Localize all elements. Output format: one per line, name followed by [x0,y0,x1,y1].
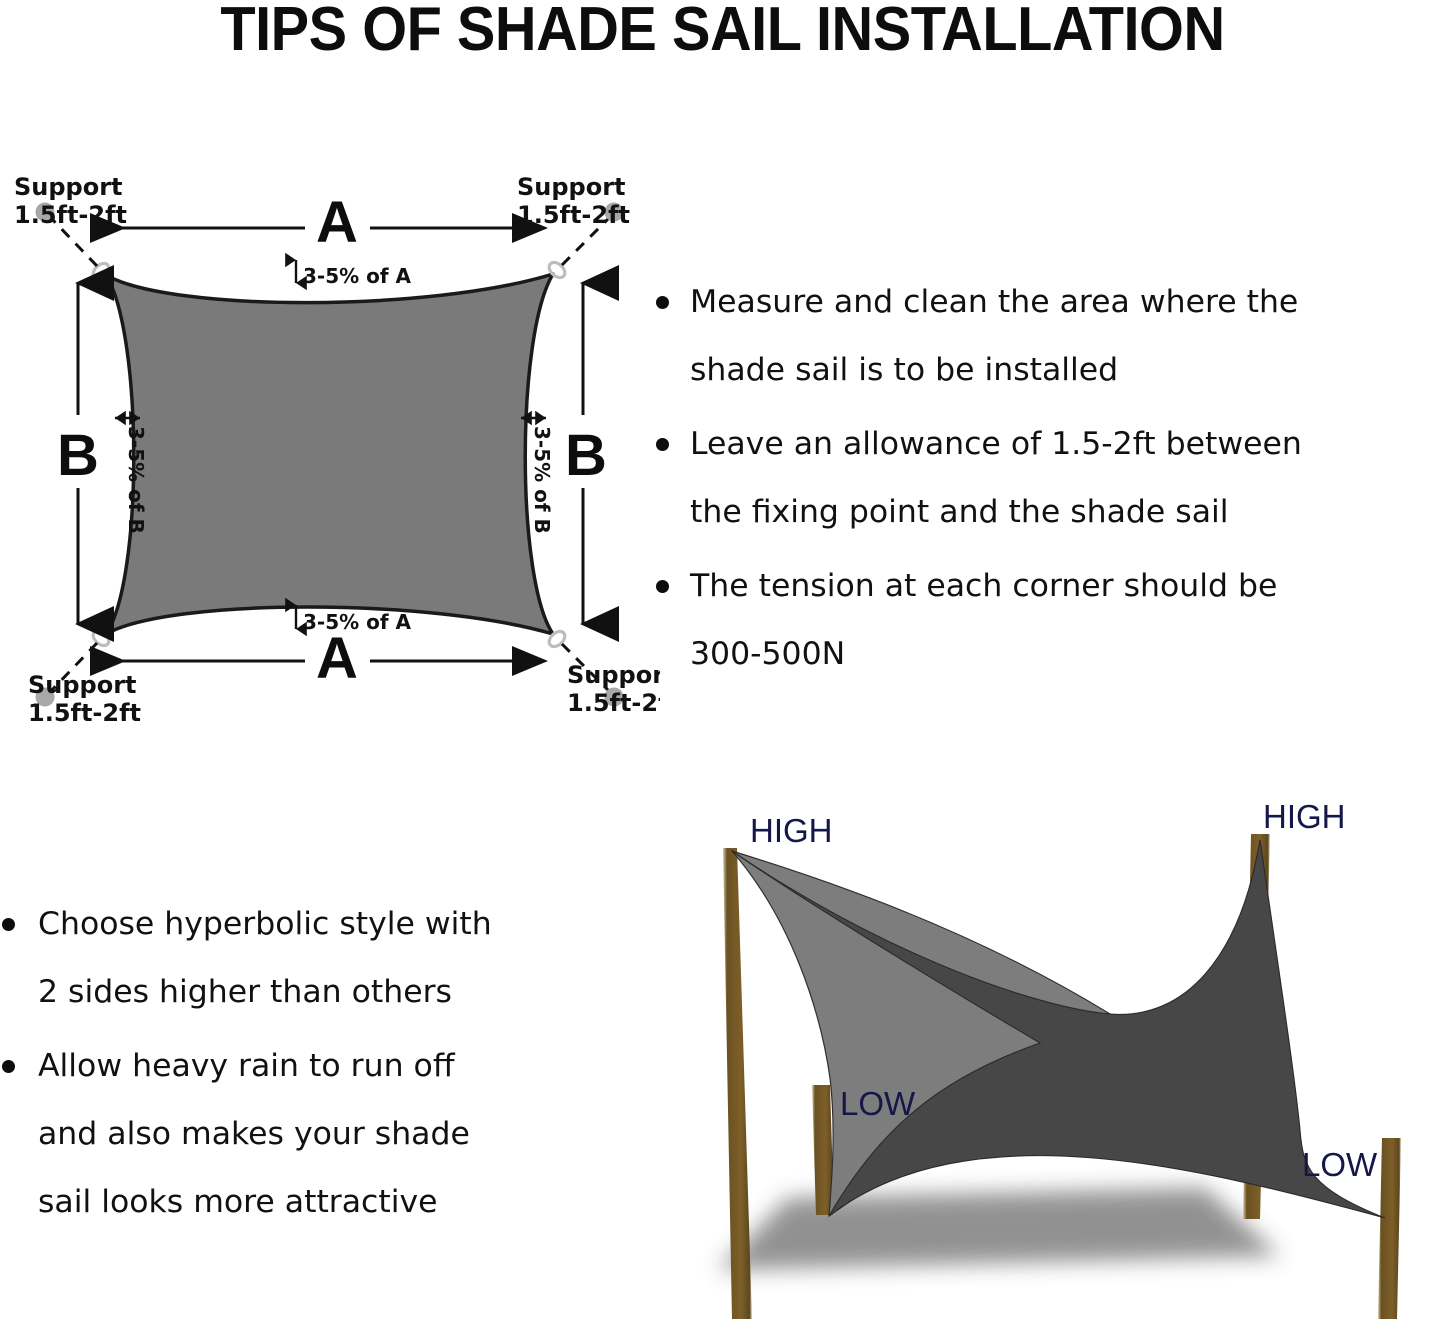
bullet-icon [2,918,15,931]
installation-tips-list: Measure and clean the area where the sha… [648,268,1445,694]
pole-low-right [1378,1138,1401,1319]
support-label-line1: Support [567,661,660,689]
support-label-line1: Support [28,671,137,699]
dimension-label-b-right: B [565,423,607,488]
tip-line: Leave an allowance of 1.5-2ft between [690,426,1302,462]
list-item: Leave an allowance of 1.5-2ft between th… [648,410,1445,546]
support-label-line1: Support [517,173,626,201]
support-label-line1: Support [14,173,123,201]
rectangular-sail-diagram: A 3-5% of A A 3-5% of A B 3-5% of B B 3-… [0,150,660,730]
label-high-left: HIGH [750,812,833,849]
dimension-label-b-left: B [57,423,99,488]
label-low-left: LOW [840,1085,916,1122]
tip-line: 2 sides higher than others [38,974,452,1010]
tips-bullet-list: Measure and clean the area where the sha… [648,268,1445,688]
tip-line: shade sail is to be installed [690,352,1118,388]
pole-high-left [723,848,752,1319]
tip-line: and also makes your shade [38,1116,470,1152]
label-low-right: LOW [1302,1146,1378,1183]
support-label-line2: 1.5ft-2ft [28,699,141,727]
list-item: Allow heavy rain to run off and also mak… [0,1032,620,1236]
list-item: The tension at each corner should be 300… [648,552,1445,688]
tip-line: sail looks more attractive [38,1184,438,1220]
hyperbolic-tips-list: Choose hyperbolic style with 2 sides hig… [0,890,620,1242]
hyperbolic-sail-svg: HIGH HIGH LOW LOW [640,778,1445,1319]
page-title: TIPS OF SHADE SAIL INSTALLATION [51,0,1395,65]
tip-line: The tension at each corner should be [690,568,1277,604]
curve-label-left: 3-5% of B [124,426,148,534]
dimension-label-a-bottom: A [316,626,358,691]
list-item: Measure and clean the area where the sha… [648,268,1445,404]
bullet-icon [656,580,669,593]
support-label-bottom-right: Support 1.5ft-2ft [567,661,660,717]
bullet-icon [656,438,669,451]
shade-sail-shape [106,274,553,634]
curve-label-right: 3-5% of B [530,426,554,534]
curve-label-top: 3-5% of A [303,264,412,288]
tip-line: Measure and clean the area where the [690,284,1298,320]
bullet-icon [2,1060,15,1073]
curve-label-bottom: 3-5% of A [303,610,412,634]
sail-diagram-svg: A 3-5% of A A 3-5% of A B 3-5% of B B 3-… [0,150,660,730]
tip-line: the fixing point and the shade sail [690,494,1229,530]
tip-line: 300-500N [690,636,845,672]
label-high-right: HIGH [1263,798,1346,835]
ground-shadow [718,1188,1280,1270]
tip-line: Choose hyperbolic style with [38,906,492,942]
bullet-icon [656,296,669,309]
support-label-line2: 1.5ft-2ft [14,201,127,229]
list-item: Choose hyperbolic style with 2 sides hig… [0,890,620,1026]
hyperbolic-bullet-list: Choose hyperbolic style with 2 sides hig… [0,890,620,1236]
support-label-top-right: Support 1.5ft-2ft [517,173,630,229]
tip-line: Allow heavy rain to run off [38,1048,455,1084]
support-label-line2: 1.5ft-2ft [567,689,660,717]
support-label-line2: 1.5ft-2ft [517,201,630,229]
support-label-top-left: Support 1.5ft-2ft [14,173,127,229]
dimension-label-a-top: A [316,190,358,255]
support-label-bottom-left: Support 1.5ft-2ft [28,671,141,727]
hyperbolic-sail-figure: HIGH HIGH LOW LOW [640,778,1445,1319]
